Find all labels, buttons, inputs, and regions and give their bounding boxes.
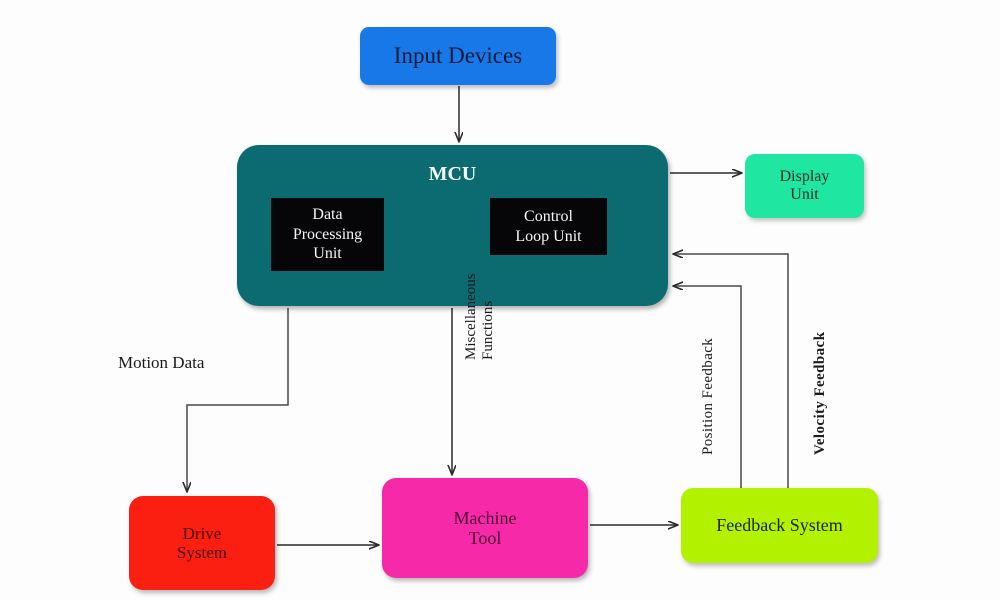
node-mcu[interactable]: MCU Data Processing Unit Control Loop Un… <box>237 145 668 306</box>
node-display-unit[interactable]: Display Unit <box>745 154 864 218</box>
node-data-processing-unit-label: Data Processing Unit <box>271 205 384 264</box>
node-display-unit-label: Display Unit <box>745 168 864 204</box>
edge-label-position-feedback: Position Feedback <box>700 338 717 455</box>
edge-label-velocity-feedback: Velocity Feedback <box>812 332 829 455</box>
edge-label-motion-data: Motion Data <box>118 353 204 373</box>
edge-feedback-velocity-to-mcu <box>674 254 788 488</box>
node-control-loop-unit-label: Control Loop Unit <box>490 207 607 246</box>
node-machine-tool-label: Machine Tool <box>382 508 588 548</box>
edge-label-miscellaneous-functions: Miscellaneous Functions <box>463 240 498 360</box>
node-mcu-label: MCU <box>237 163 668 185</box>
node-drive-system[interactable]: Drive System <box>129 496 275 590</box>
node-input-devices[interactable]: Input Devices <box>360 27 556 85</box>
diagram-canvas: Input Devices MCU Data Processing Unit C… <box>0 0 1000 600</box>
node-feedback-system-label: Feedback System <box>681 515 878 535</box>
node-data-processing-unit[interactable]: Data Processing Unit <box>271 198 384 271</box>
node-input-devices-label: Input Devices <box>360 43 556 69</box>
node-feedback-system[interactable]: Feedback System <box>681 488 878 563</box>
node-machine-tool[interactable]: Machine Tool <box>382 478 588 578</box>
node-control-loop-unit[interactable]: Control Loop Unit <box>490 198 607 255</box>
edge-mcu-to-drive-system <box>187 308 288 491</box>
node-drive-system-label: Drive System <box>129 524 275 562</box>
